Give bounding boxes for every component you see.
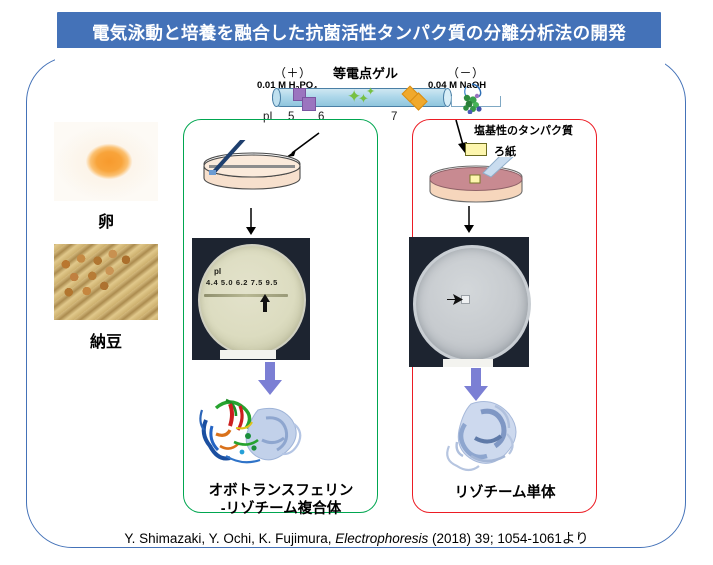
basic-protein-note: 塩基性のタンパク質 <box>474 122 573 138</box>
gel-title-label: 等電点ゲル <box>333 63 398 82</box>
right-agar-plate-disc <box>413 245 531 363</box>
citation-line: Y. Shimazaki, Y. Ochi, K. Fujimura, Elec… <box>0 527 713 547</box>
cathode-label: （－） <box>447 64 485 81</box>
right-agar-plate-photo <box>409 237 529 367</box>
citation-journal: Electrophoresis <box>335 531 428 546</box>
petri-dish-with-filter-paper <box>421 157 533 221</box>
plate-pi-label: pI <box>214 267 221 276</box>
anode-label: （＋） <box>274 64 312 81</box>
neutral-protein-marker-icon: ✦ <box>366 87 375 98</box>
plate-inhibition-zone-arrow-icon <box>258 294 272 312</box>
citation-details: (2018) 39; 1054-1061より <box>432 531 589 546</box>
plate-white-label-tab <box>220 350 276 359</box>
egg-yolk-photo <box>54 122 158 201</box>
acidic-protein-marker-icon <box>302 97 316 111</box>
left-agar-plate-disc <box>198 244 306 356</box>
right-plate-arrow-icon <box>447 293 463 306</box>
slide-title-bar: 電気泳動と培養を融合した抗菌活性タンパク質の分離分析法の開発 <box>57 12 661 52</box>
protein-cluster-icon <box>458 82 488 114</box>
sample-label-natto: 納豆 <box>54 328 158 352</box>
ovotransferrin-lysozyme-complex-structure <box>196 390 321 478</box>
right-result-caption: リゾチーム単体 <box>412 484 598 502</box>
gel-strip-overlay <box>204 294 288 297</box>
plate-pi-values: 4.4 5.0 6.2 7.5 9.5 <box>206 278 278 287</box>
left-result-caption: オボトランスフェリン -リゾチーム複合体 <box>185 482 377 518</box>
citation-authors: Y. Shimazaki, Y. Ochi, K. Fujimura, <box>124 531 331 546</box>
natto-photo <box>54 244 158 320</box>
dish-to-plate-arrow-icon <box>243 208 259 236</box>
slide-canvas: 電気泳動と培養を融合した抗菌活性タンパク質の分離分析法の開発 （＋） 0.01 … <box>0 0 713 565</box>
petri-dish-with-gel-strip <box>195 140 310 210</box>
right-plate-white-label-tab <box>443 359 493 367</box>
gel-tube-left-cap <box>272 88 281 107</box>
right-dish-to-plate-arrow-icon <box>461 206 477 234</box>
slide-title: 電気泳動と培養を融合した抗菌活性タンパク質の分離分析法の開発 <box>92 20 626 45</box>
lysozyme-structure <box>437 394 547 478</box>
filter-paper-swatch-icon <box>465 143 487 156</box>
gel-pi-tick-7: 7 <box>391 111 397 123</box>
sample-label-egg: 卵 <box>54 208 158 232</box>
left-agar-plate-photo: pI 4.4 5.0 6.2 7.5 9.5 <box>192 238 310 360</box>
natto-beans-decoration <box>54 244 139 305</box>
